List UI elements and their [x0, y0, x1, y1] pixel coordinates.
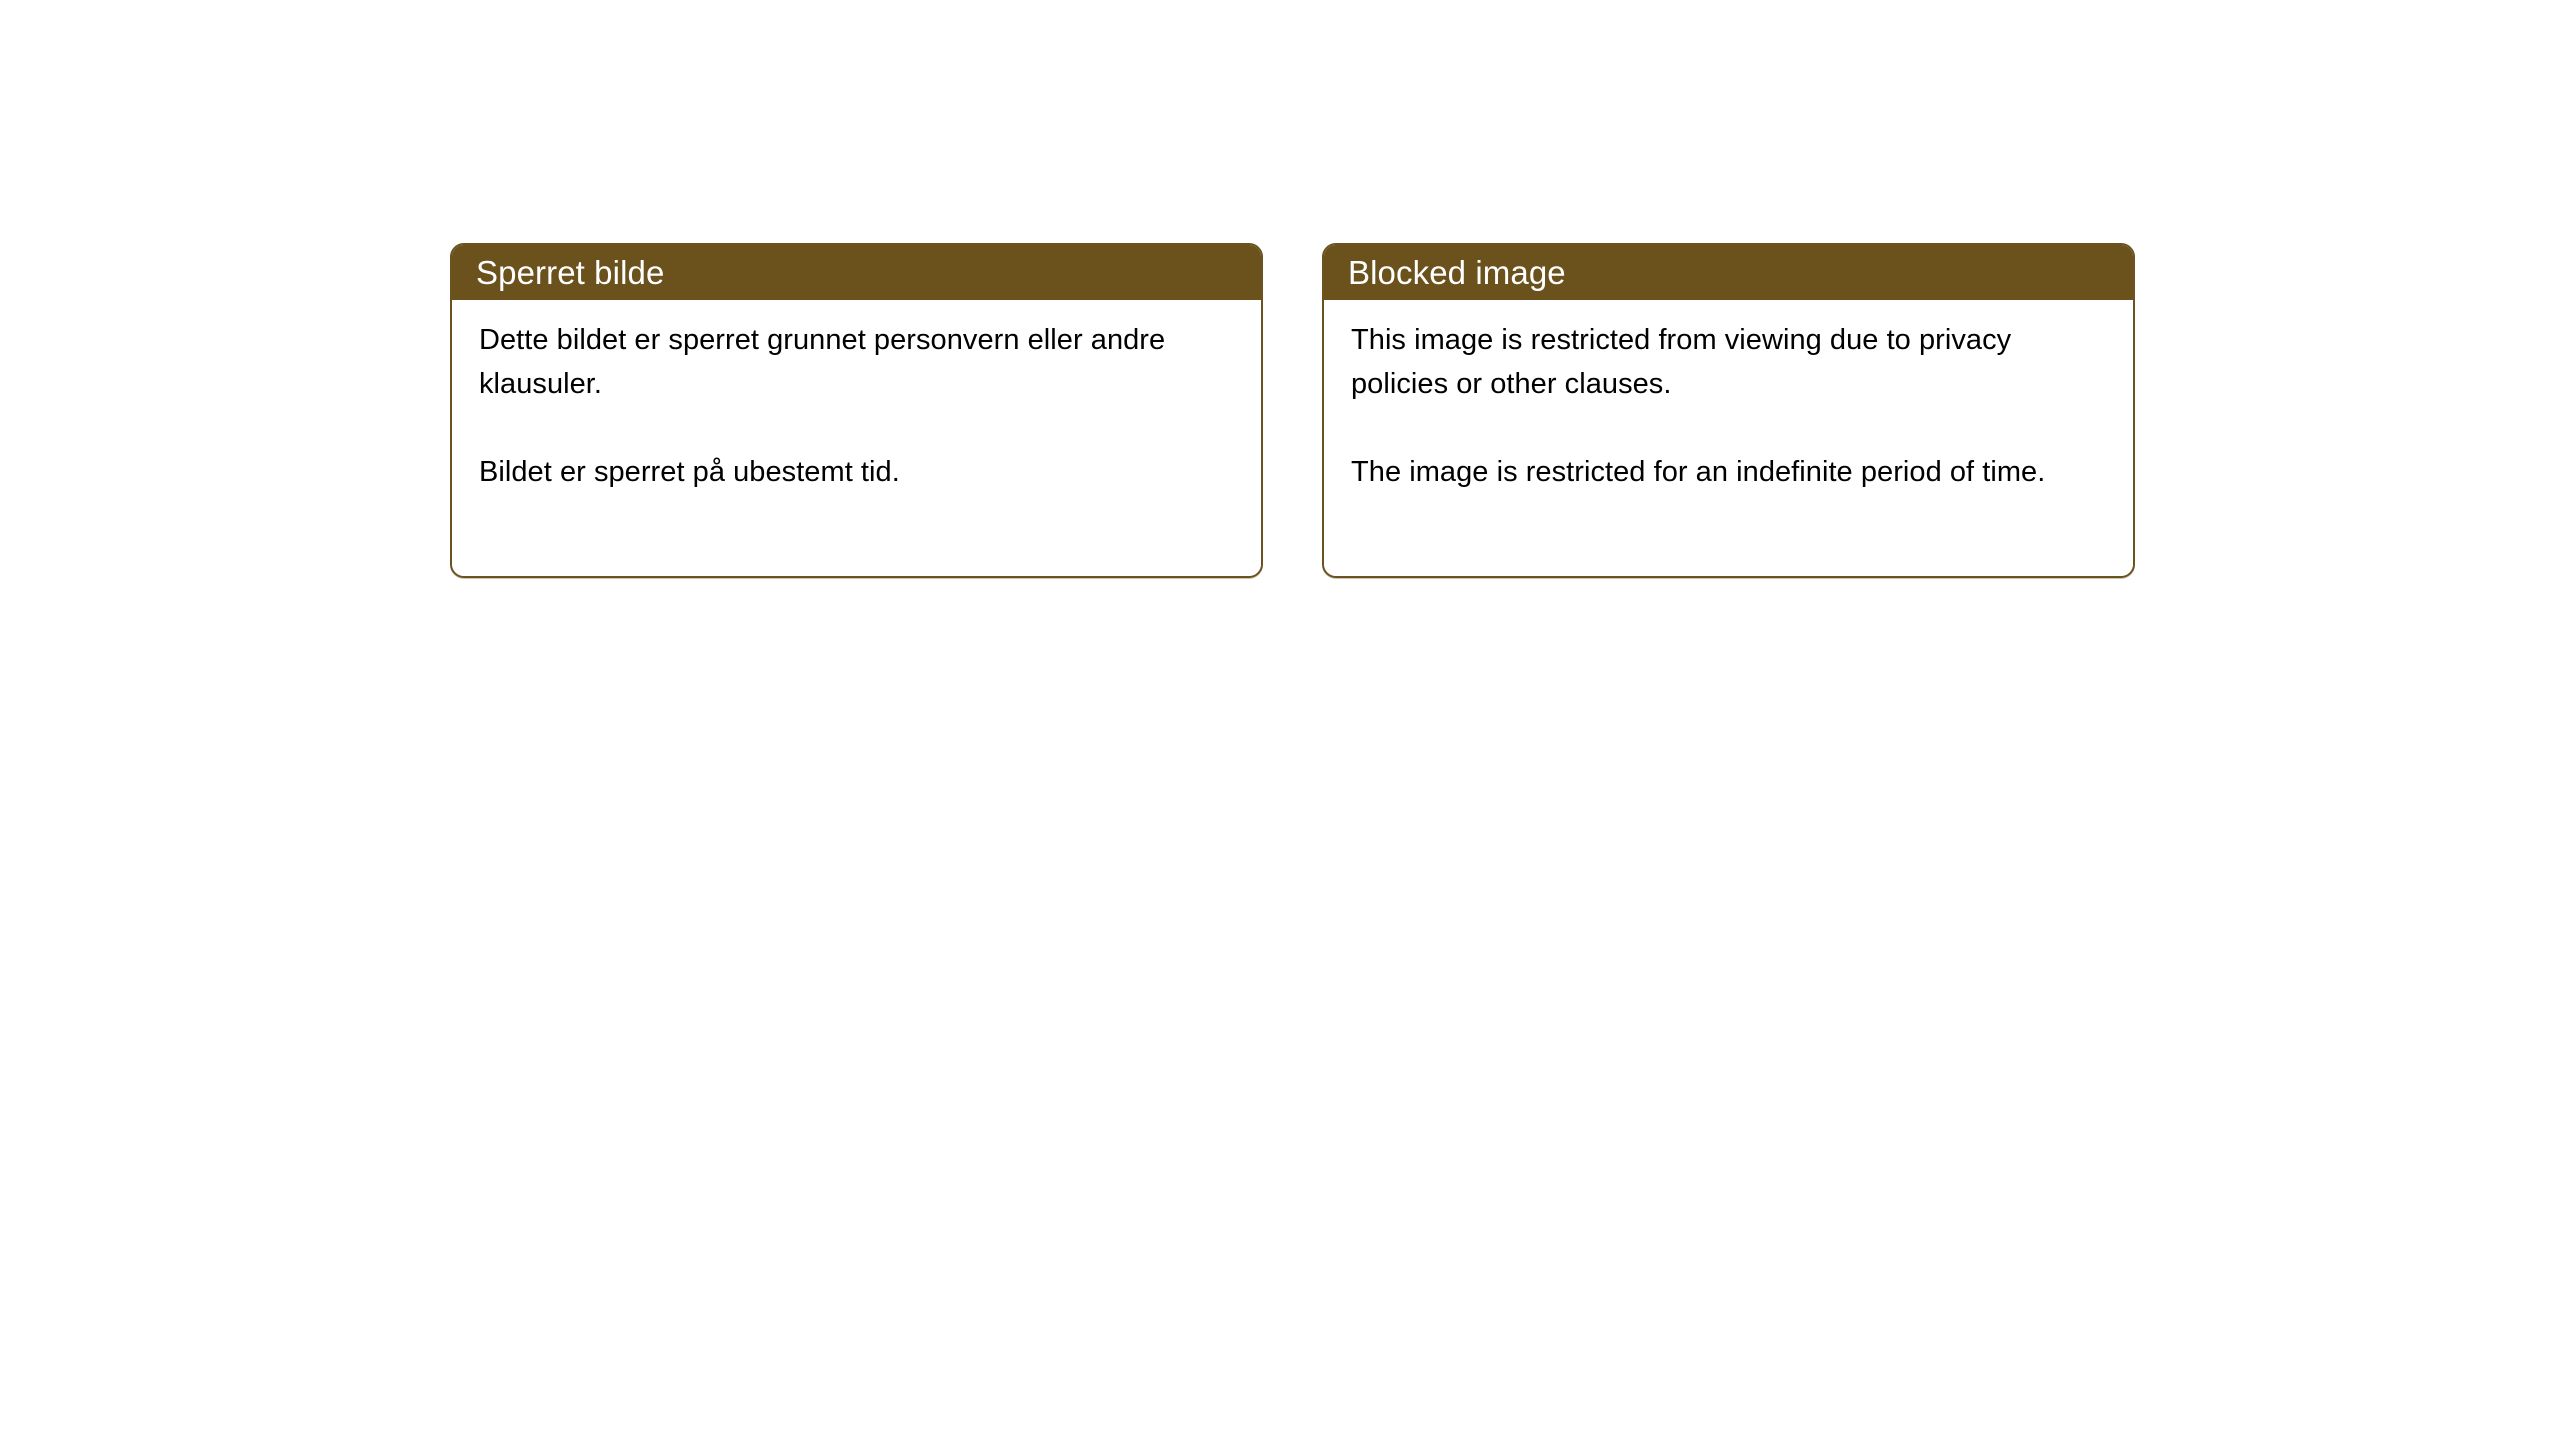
card-header-en: Blocked image [1324, 245, 2133, 300]
card-title-en: Blocked image [1348, 255, 1566, 291]
card-paragraph-en-2: The image is restricted for an indefinit… [1351, 450, 2107, 494]
card-paragraph-no-2: Bildet er sperret på ubestemt tid. [479, 450, 1235, 494]
blocked-image-card-no: Sperret bilde Dette bildet er sperret gr… [450, 243, 1263, 578]
blocked-image-card-en: Blocked image This image is restricted f… [1322, 243, 2135, 578]
card-header-no: Sperret bilde [452, 245, 1261, 300]
card-title-no: Sperret bilde [476, 255, 664, 291]
card-body-no: Dette bildet er sperret grunnet personve… [452, 300, 1261, 576]
page-root: Sperret bilde Dette bildet er sperret gr… [0, 0, 2560, 1440]
card-paragraph-no-1: Dette bildet er sperret grunnet personve… [479, 318, 1235, 406]
blocked-image-notice-group: Sperret bilde Dette bildet er sperret gr… [450, 243, 2135, 578]
card-paragraph-en-1: This image is restricted from viewing du… [1351, 318, 2107, 406]
card-body-en: This image is restricted from viewing du… [1324, 300, 2133, 576]
